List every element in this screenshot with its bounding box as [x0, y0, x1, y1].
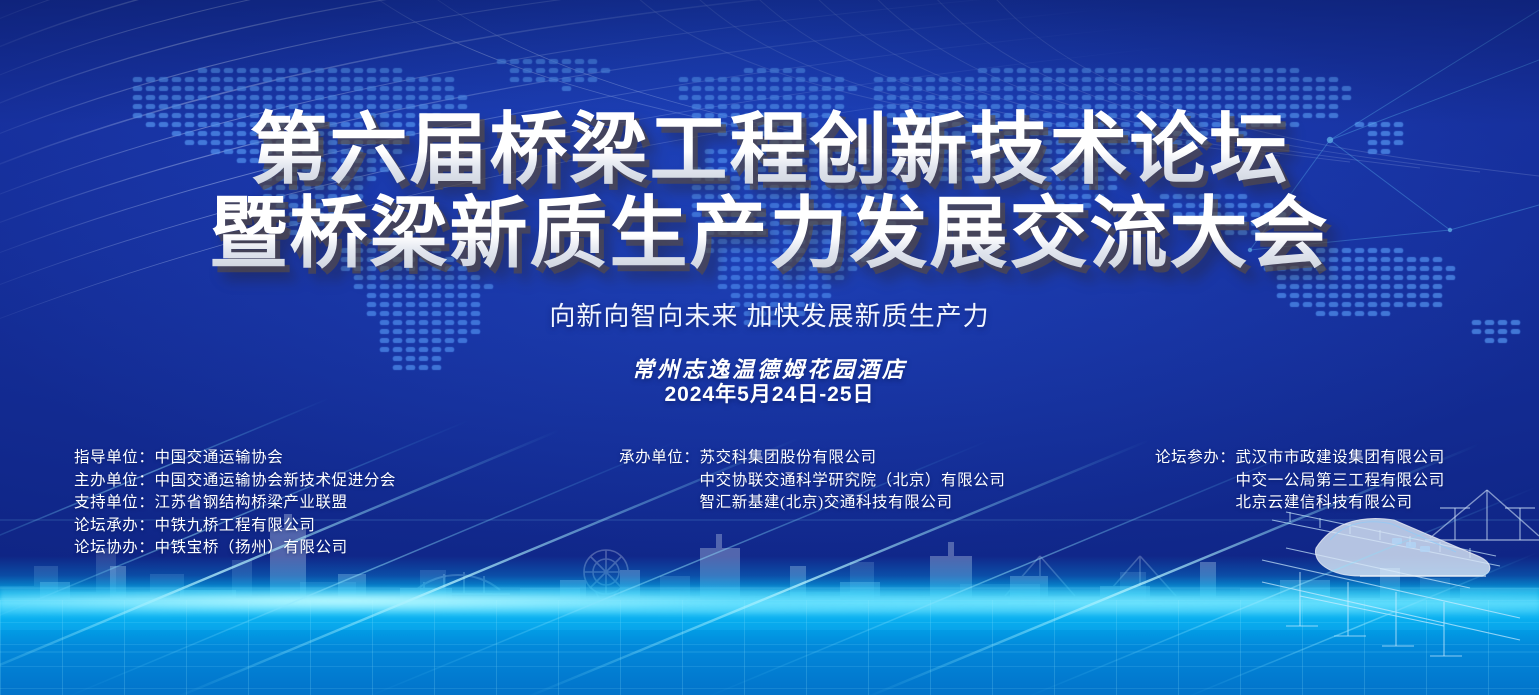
sponsor-label: 论坛承办：	[74, 515, 155, 538]
sponsor-row: 论坛协办：中铁宝桥（扬州）有限公司	[74, 537, 396, 560]
sponsor-value: 江苏省钢结构桥梁产业联盟	[155, 492, 348, 515]
title-line-1: 第六届桥梁工程创新技术论坛	[0, 108, 1539, 192]
sponsor-value: 中铁九桥工程有限公司	[155, 515, 316, 538]
sponsor-row: 论坛参办：中交一公局第三工程有限公司	[1155, 470, 1445, 493]
sponsor-row: 承办单位：智汇新基建(北京)交通科技有限公司	[619, 492, 1005, 515]
sponsor-label: 承办单位：	[619, 447, 700, 470]
sponsor-value: 中交一公局第三工程有限公司	[1236, 470, 1445, 493]
sponsor-row: 支持单位：江苏省钢结构桥梁产业联盟	[74, 492, 396, 515]
sponsor-value: 中国交通运输协会	[155, 447, 284, 470]
sponsor-row: 指导单位：中国交通运输协会	[74, 447, 396, 470]
sponsor-label: 主办单位：	[74, 470, 155, 493]
sponsor-row: 承办单位：苏交科集团股份有限公司	[619, 447, 1005, 470]
sponsor-column-left: 指导单位：中国交通运输协会主办单位：中国交通运输协会新技术促进分会支持单位：江苏…	[74, 447, 396, 560]
title-block: 第六届桥梁工程创新技术论坛 暨桥梁新质生产力发展交流大会	[0, 108, 1539, 276]
subtitle: 向新向智向未来 加快发展新质生产力	[0, 296, 1539, 333]
sponsor-row: 主办单位：中国交通运输协会新技术促进分会	[74, 470, 396, 493]
sponsor-label: 论坛参办：	[1155, 447, 1236, 470]
sponsor-value: 中铁宝桥（扬州）有限公司	[155, 537, 348, 560]
sponsor-value: 苏交科集团股份有限公司	[700, 447, 877, 470]
title-line-2: 暨桥梁新质生产力发展交流大会	[0, 192, 1539, 276]
sponsor-label: 论坛协办：	[74, 537, 155, 560]
sponsor-row: 承办单位：中交协联交通科学研究院（北京）有限公司	[619, 470, 1005, 493]
sponsor-row: 论坛参办：武汉市市政建设集团有限公司	[1155, 447, 1445, 470]
sponsor-row: 论坛参办：北京云建信科技有限公司	[1155, 492, 1445, 515]
date-text: 2024年5月24日-25日	[0, 378, 1539, 408]
sponsor-label: 支持单位：	[74, 492, 155, 515]
sponsor-value: 中国交通运输协会新技术促进分会	[155, 470, 397, 493]
sponsor-value: 中交协联交通科学研究院（北京）有限公司	[700, 470, 1006, 493]
sponsor-value: 武汉市市政建设集团有限公司	[1236, 447, 1445, 470]
sponsor-row: 论坛承办：中铁九桥工程有限公司	[74, 515, 396, 538]
sponsor-value: 北京云建信科技有限公司	[1236, 492, 1413, 515]
sponsor-value: 智汇新基建(北京)交通科技有限公司	[700, 492, 953, 515]
sponsor-column-middle: 承办单位：苏交科集团股份有限公司承办单位：中交协联交通科学研究院（北京）有限公司…	[619, 447, 1005, 515]
sponsor-label: 指导单位：	[74, 447, 155, 470]
sponsor-column-right: 论坛参办：武汉市市政建设集团有限公司论坛参办：中交一公局第三工程有限公司论坛参办…	[1155, 447, 1445, 515]
conference-banner: 第六届桥梁工程创新技术论坛 暨桥梁新质生产力发展交流大会 向新向智向未来 加快发…	[0, 0, 1539, 695]
